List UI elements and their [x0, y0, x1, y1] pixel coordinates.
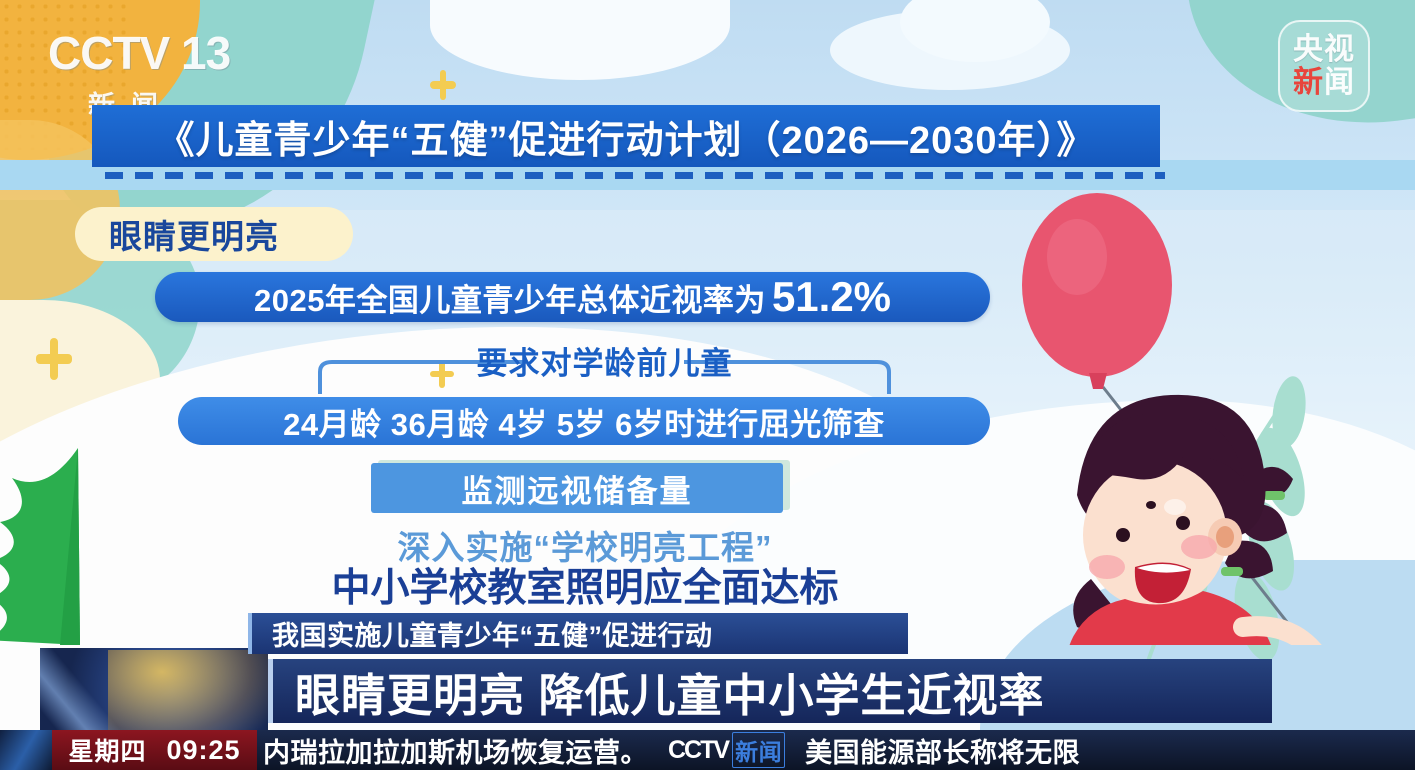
ticker-headline-2: 美国能源部长称将无限 — [805, 731, 1080, 770]
lower-third-headline-text: 眼睛更明亮 降低儿童中小学生近视率 — [295, 659, 1045, 724]
screening-ages-text: 24月龄 36月龄 4岁 5岁 6岁时进行屈光筛查 — [283, 399, 885, 444]
section-label-text: 眼睛更明亮 — [109, 210, 279, 258]
plus-icon — [36, 338, 72, 380]
ticker-datetime: 星期四 09:25 — [52, 730, 257, 770]
document-title-banner: 《儿童青少年“五健”促进行动计划（2026—2030年）》 — [92, 105, 1160, 167]
classroom-lighting-line: 中小学校教室照明应全面达标 — [0, 557, 1170, 613]
lower-third-kicker-text: 我国实施儿童青少年“五健”促进行动 — [272, 614, 713, 653]
cctv13-logo-text: CCTV 13 — [48, 26, 288, 80]
dashed-divider — [105, 172, 1165, 179]
section-label-pill: 眼睛更明亮 — [75, 207, 353, 261]
globe-graphic — [40, 648, 268, 730]
hyperopia-reserve-text: 监测远视储备量 — [462, 466, 693, 511]
cctv-inline-logo-sub: 新闻 — [732, 732, 785, 768]
preschool-requirement-heading: 要求对学龄前儿童 — [312, 340, 897, 386]
ticker-weekday: 星期四 — [68, 732, 146, 768]
stat-value-text: 51.2% — [772, 276, 891, 318]
broadcast-screen: CCTV 13 新闻 央视 新闻 《儿童青少年“五健”促进行动计划（2026—2… — [0, 0, 1415, 770]
preschool-requirement-text: 要求对学龄前儿童 — [312, 338, 897, 383]
watermark-line-1: 央视 — [1293, 35, 1355, 65]
stat-prefix-text: 2025年全国儿童青少年总体近视率为 — [254, 275, 766, 320]
ticker-time: 09:25 — [166, 735, 240, 766]
watermark-line-2: 新闻 — [1293, 68, 1355, 98]
cctv-news-inline-logo: CCTV 新闻 — [668, 732, 785, 768]
myopia-rate-stat-bar: 2025年全国儿童青少年总体近视率为 51.2% — [155, 272, 990, 322]
document-title-text: 《儿童青少年“五健”促进行动计划（2026—2030年）》 — [156, 109, 1095, 164]
ticker-headline-1: 内瑞拉加拉加斯机场恢复运营。 — [263, 731, 648, 770]
ticker-headlines: 内瑞拉加拉加斯机场恢复运营。 CCTV 新闻 美国能源部长称将无限 — [257, 731, 1415, 770]
lower-third-kicker: 我国实施儿童青少年“五健”促进行动 — [248, 613, 908, 654]
watermark-char-white: 闻 — [1324, 66, 1355, 99]
screening-ages-bar: 24月龄 36月龄 4岁 5岁 6岁时进行屈光筛查 — [178, 397, 990, 445]
watermark-char-red: 新 — [1293, 66, 1324, 99]
hyperopia-reserve-box: 监测远视储备量 — [371, 463, 783, 513]
news-ticker-bar: 星期四 09:25 内瑞拉加拉加斯机场恢复运营。 CCTV 新闻 美国能源部长称… — [0, 730, 1415, 770]
ticker-left-decoration — [0, 730, 52, 770]
cctv-news-watermark: 央视 新闻 — [1278, 20, 1370, 112]
plus-icon — [430, 70, 456, 100]
lower-third-headline: 眼睛更明亮 降低儿童中小学生近视率 — [268, 659, 1272, 723]
cctv-inline-logo-text: CCTV — [668, 736, 728, 765]
